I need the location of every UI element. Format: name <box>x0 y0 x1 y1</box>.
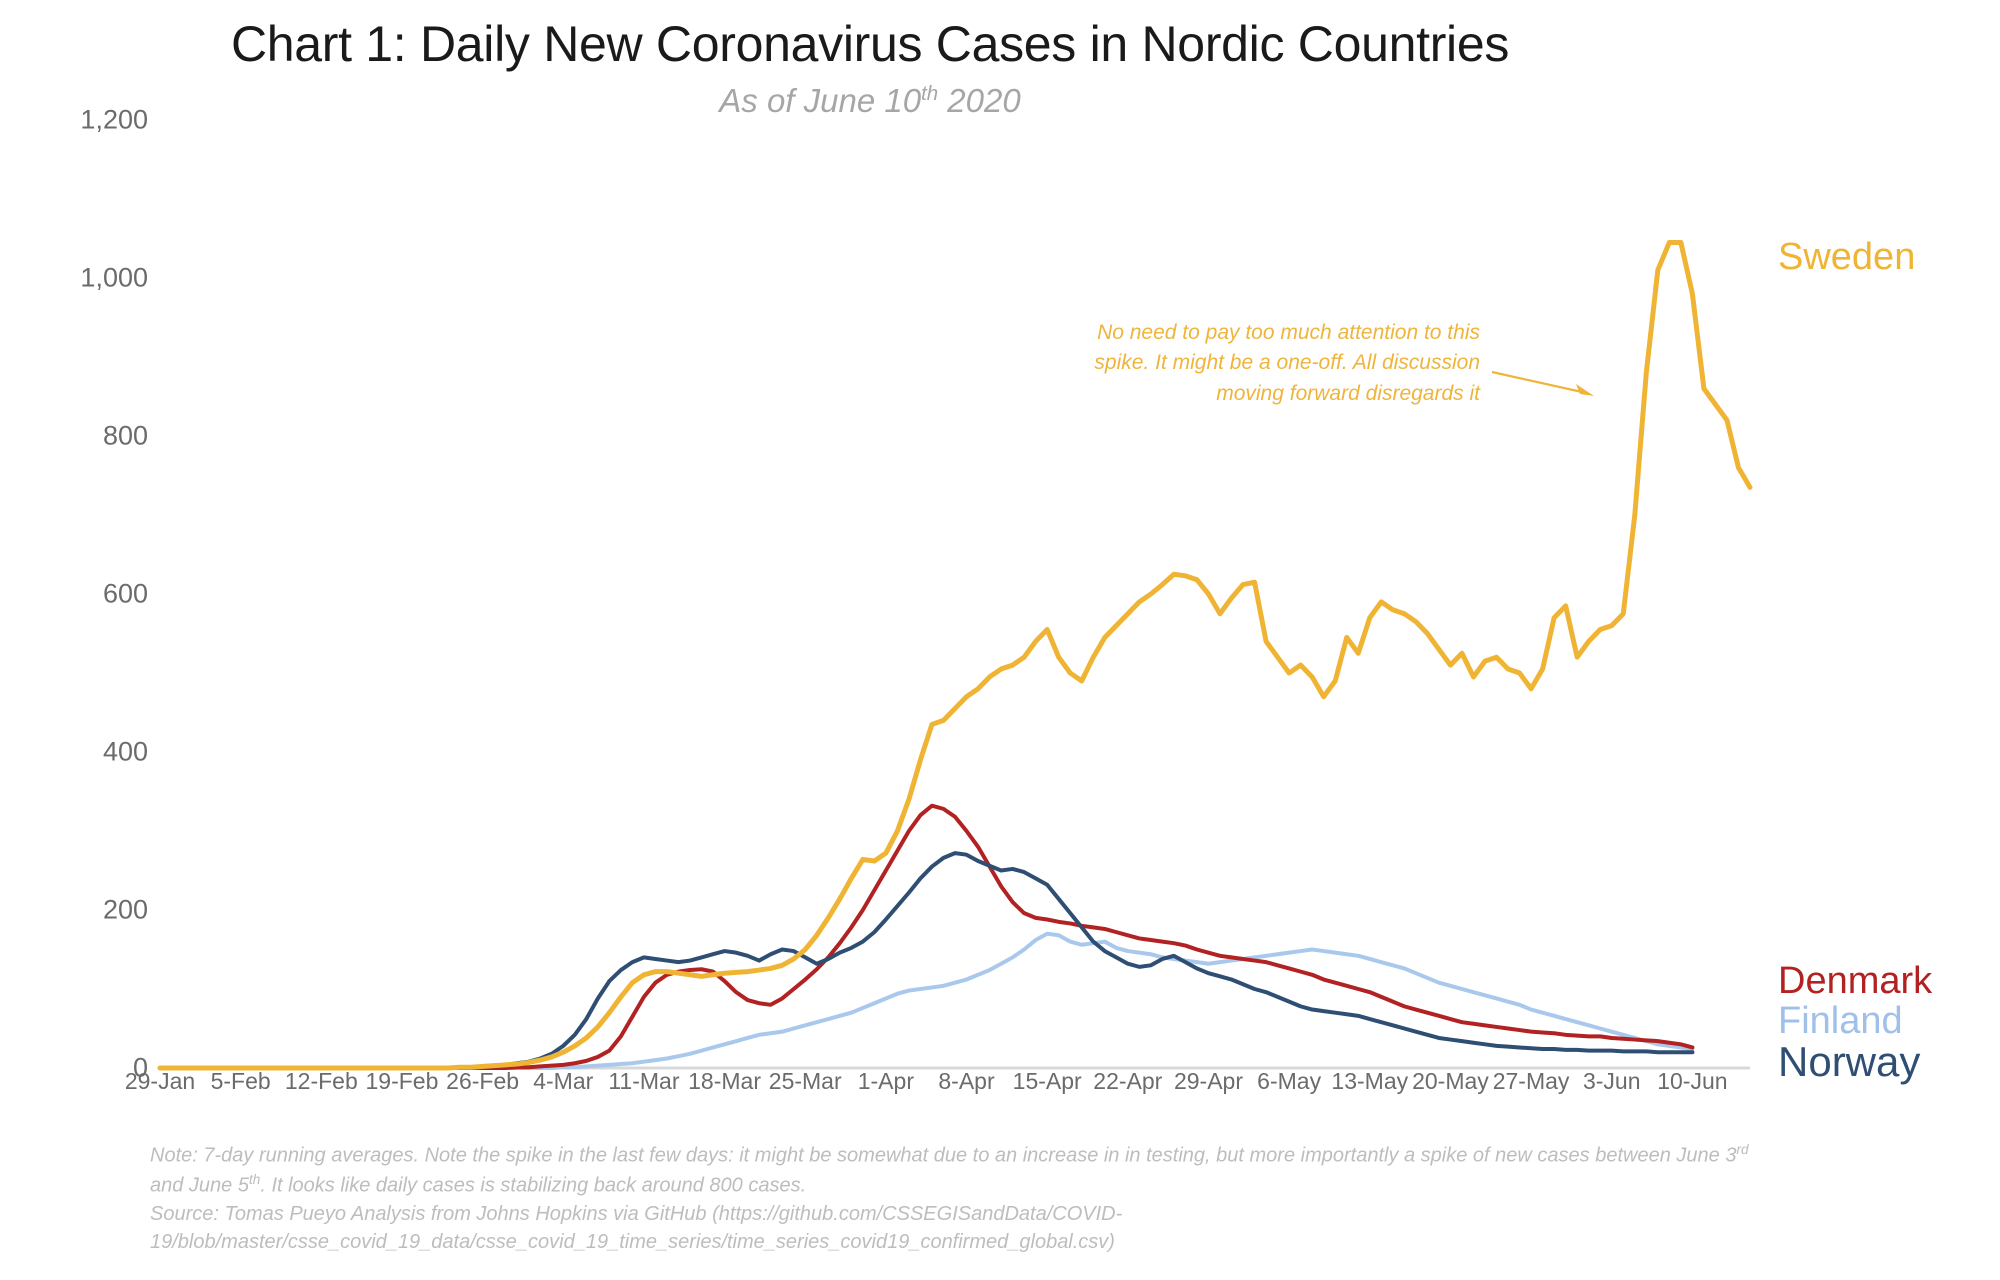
x-tick-label: 25-Mar <box>769 1068 842 1095</box>
x-tick-label: 10-Jun <box>1657 1068 1727 1095</box>
x-tick-label: 26-Feb <box>446 1068 519 1095</box>
y-axis: 02004006008001,0001,200 <box>0 120 148 1068</box>
series-line-denmark <box>160 806 1692 1068</box>
x-tick-label: 1-Apr <box>858 1068 914 1095</box>
footnote-note-post: . It looks like daily cases is stabilizi… <box>260 1175 806 1197</box>
annotation-arrow-icon <box>1490 368 1600 398</box>
footer-notes: Note: 7-day running averages. Note the s… <box>150 1140 1770 1257</box>
subtitle-year: 2020 <box>938 82 1021 119</box>
series-svg <box>160 120 1750 1068</box>
x-tick-label: 5-Feb <box>211 1068 271 1095</box>
x-tick-label: 13-May <box>1331 1068 1408 1095</box>
chart-subtitle: As of June 10th 2020 <box>0 82 1740 120</box>
x-tick-label: 15-Apr <box>1013 1068 1082 1095</box>
x-tick-label: 18-Mar <box>688 1068 761 1095</box>
x-tick-label: 27-May <box>1493 1068 1570 1095</box>
spike-annotation: No need to pay too much attention to thi… <box>1090 318 1480 409</box>
x-tick-label: 11-Mar <box>608 1068 679 1095</box>
footnote-note: Note: 7-day running averages. Note the s… <box>150 1140 1770 1200</box>
x-tick-label: 29-Apr <box>1174 1068 1243 1095</box>
footnote-note-mid: and June 5 <box>150 1175 249 1197</box>
chart-container: Chart 1: Daily New Coronavirus Cases in … <box>0 0 2000 1280</box>
y-tick-label: 400 <box>103 737 148 768</box>
y-tick-label: 1,200 <box>80 105 148 136</box>
series-label-norway: Norway <box>1778 1038 1920 1086</box>
footnote-source-line2: 19/blob/master/csse_covid_19_data/csse_c… <box>150 1228 1770 1256</box>
series-label-finland: Finland <box>1778 1000 1903 1043</box>
x-tick-label: 8-Apr <box>938 1068 994 1095</box>
x-axis: 29-Jan5-Feb12-Feb19-Feb26-Feb4-Mar11-Mar… <box>160 1068 1750 1108</box>
chart-title: Chart 1: Daily New Coronavirus Cases in … <box>0 18 1740 71</box>
footnote-source-line1: Source: Tomas Pueyo Analysis from Johns … <box>150 1200 1770 1228</box>
footnote-ordinal-1: rd <box>1736 1142 1748 1157</box>
footnote-note-pre: Note: 7-day running averages. Note the s… <box>150 1145 1736 1167</box>
x-tick-label: 3-Jun <box>1583 1068 1641 1095</box>
data-series-group <box>160 242 1750 1068</box>
footnote-ordinal-2: th <box>249 1172 260 1187</box>
y-tick-label: 1,000 <box>80 263 148 294</box>
series-line-finland <box>160 934 1692 1068</box>
plot-area <box>160 120 1750 1068</box>
subtitle-text: As of June 10 <box>719 82 921 119</box>
subtitle-ordinal: th <box>921 82 938 105</box>
x-tick-label: 29-Jan <box>125 1068 195 1095</box>
y-tick-label: 600 <box>103 579 148 610</box>
x-tick-label: 4-Mar <box>533 1068 593 1095</box>
x-tick-label: 22-Apr <box>1093 1068 1162 1095</box>
x-tick-label: 12-Feb <box>285 1068 358 1095</box>
y-tick-label: 200 <box>103 895 148 926</box>
y-tick-label: 800 <box>103 421 148 452</box>
x-tick-label: 19-Feb <box>366 1068 439 1095</box>
series-label-sweden: Sweden <box>1778 236 1915 279</box>
x-tick-label: 6-May <box>1257 1068 1321 1095</box>
x-tick-label: 20-May <box>1412 1068 1489 1095</box>
series-label-denmark: Denmark <box>1778 960 1932 1003</box>
series-line-norway <box>160 853 1692 1068</box>
series-line-sweden <box>160 242 1750 1068</box>
